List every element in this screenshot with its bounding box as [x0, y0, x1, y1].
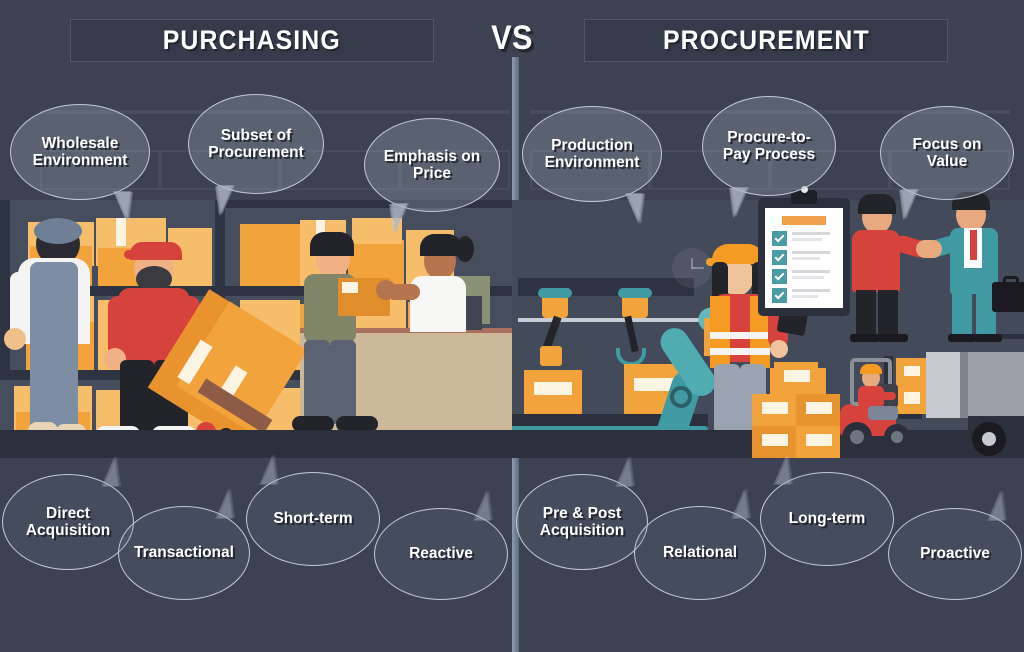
bubble-pre-and-post-acquisition[interactable]: Pre & Post Acquisition — [516, 474, 648, 570]
stacked-boxes — [752, 362, 844, 458]
clipboard-graphic — [758, 198, 850, 316]
header-procurement: PROCUREMENT — [584, 19, 948, 62]
bubble-reactive[interactable]: Reactive — [374, 508, 508, 600]
bubble-proactive[interactable]: Proactive — [888, 508, 1022, 600]
bubble-long-term[interactable]: Long-term — [760, 472, 894, 566]
wall-clock-icon — [672, 248, 712, 288]
header-procurement-label: PROCUREMENT — [663, 25, 870, 56]
bubble-relational[interactable]: Relational — [634, 506, 766, 600]
bubble-subset-of-procurement[interactable]: Subset of Procurement — [188, 94, 324, 194]
bubble-focus-on-value[interactable]: Focus on Value — [880, 106, 1014, 200]
bubble-direct-acquisition[interactable]: Direct Acquisition — [2, 474, 134, 570]
bubble-emphasis-on-price[interactable]: Emphasis on Price — [364, 118, 500, 212]
infographic-canvas: PURCHASING VS PROCUREMENT — [0, 0, 1024, 652]
bubble-transactional[interactable]: Transactional — [118, 506, 250, 600]
bubble-short-term[interactable]: Short-term — [246, 472, 380, 566]
bubble-procure-to-pay-process[interactable]: Procure-to-Pay Process — [702, 96, 836, 196]
bubble-wholesale-environment[interactable]: Wholesale Environment — [10, 104, 150, 200]
purchasing-scene — [0, 200, 512, 458]
bubble-production-environment[interactable]: Production Environment — [522, 106, 662, 202]
handshake-businessmen — [850, 196, 1010, 338]
forklift-loading — [840, 352, 1024, 456]
briefcase-icon — [992, 282, 1024, 312]
